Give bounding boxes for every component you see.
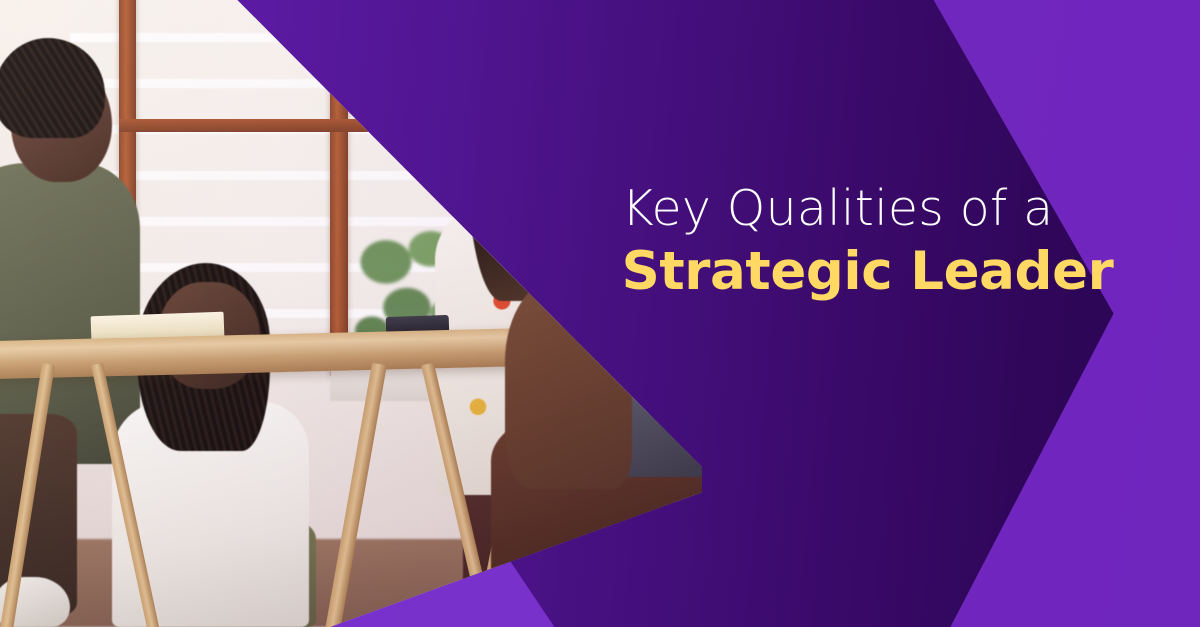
headline-line-1: Key Qualities of a	[622, 182, 1150, 237]
headline-block: Key Qualities of a Strategic Leader	[622, 182, 1150, 300]
banner: Key Qualities of a Strategic Leader	[0, 0, 1200, 627]
headline-line-2: Strategic Leader	[622, 243, 1150, 300]
